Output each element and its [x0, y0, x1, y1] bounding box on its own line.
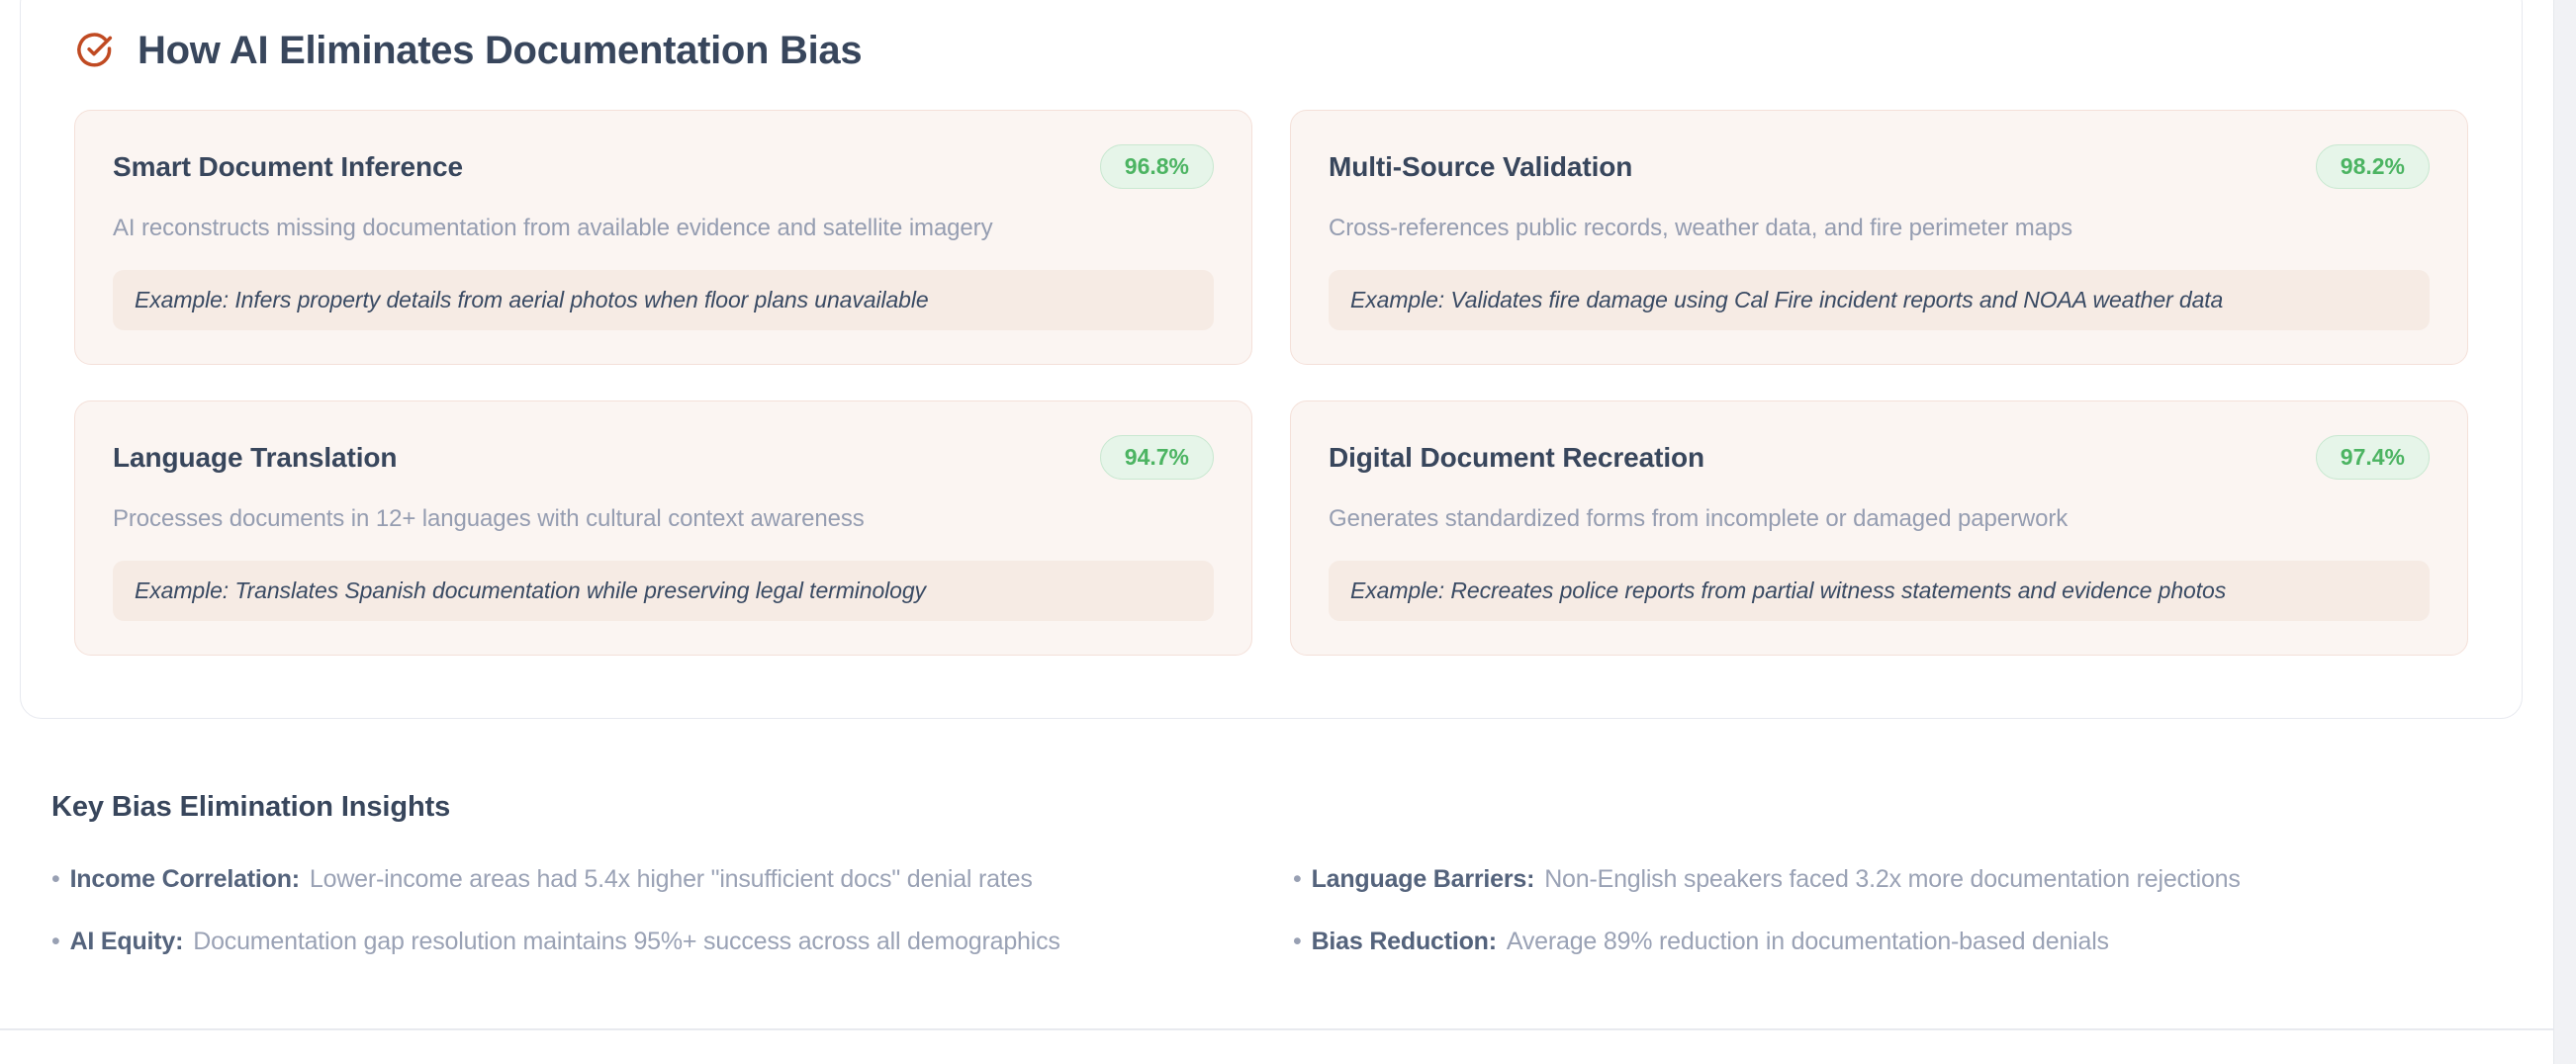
circle-check-icon [74, 31, 114, 70]
insight-item: • Language Barriers: Non-English speaker… [1293, 857, 2485, 902]
feature-example: Example: Infers property details from ae… [113, 270, 1214, 330]
bullet-icon: • [51, 867, 60, 892]
documentation-bias-panel: How AI Eliminates Documentation Bias Sma… [20, 0, 2523, 719]
insight-label: Bias Reduction: [1312, 928, 1497, 956]
feature-example: Example: Translates Spanish documentatio… [113, 561, 1214, 621]
bullet-icon: • [1293, 930, 1302, 954]
feature-card[interactable]: Digital Document Recreation 97.4% Genera… [1290, 400, 2468, 656]
feature-description: Cross-references public records, weather… [1329, 215, 2430, 242]
insights-grid: • Income Correlation: Lower-income areas… [51, 857, 2485, 964]
feature-title: Smart Document Inference [113, 151, 463, 183]
feature-title: Language Translation [113, 442, 397, 474]
insight-item: • Income Correlation: Lower-income areas… [51, 857, 1243, 902]
panel-header: How AI Eliminates Documentation Bias [21, 0, 2522, 70]
accuracy-badge: 94.7% [1100, 435, 1214, 480]
page-title: How AI Eliminates Documentation Bias [138, 31, 862, 70]
feature-title: Multi-Source Validation [1329, 151, 1632, 183]
page-scrollbar[interactable] [2553, 0, 2576, 1064]
feature-example: Example: Validates fire damage using Cal… [1329, 270, 2430, 330]
accuracy-badge: 96.8% [1100, 144, 1214, 189]
insights-section: Key Bias Elimination Insights • Income C… [51, 791, 2485, 964]
feature-description: Generates standardized forms from incomp… [1329, 505, 2430, 533]
feature-card[interactable]: Language Translation 94.7% Processes doc… [74, 400, 1252, 656]
app-root: How AI Eliminates Documentation Bias Sma… [0, 0, 2576, 1064]
feature-description: AI reconstructs missing documentation fr… [113, 215, 1214, 242]
insight-item: • AI Equity: Documentation gap resolutio… [51, 920, 1243, 964]
insight-item: • Bias Reduction: Average 89% reduction … [1293, 920, 2485, 964]
feature-card[interactable]: Multi-Source Validation 98.2% Cross-refe… [1290, 110, 2468, 365]
feature-description: Processes documents in 12+ languages wit… [113, 505, 1214, 533]
feature-card[interactable]: Smart Document Inference 96.8% AI recons… [74, 110, 1252, 365]
bullet-icon: • [1293, 867, 1302, 892]
bullet-icon: • [51, 930, 60, 954]
insight-text: Documentation gap resolution maintains 9… [193, 928, 1059, 956]
feature-example: Example: Recreates police reports from p… [1329, 561, 2430, 621]
insight-label: Income Correlation: [70, 865, 300, 894]
insight-label: Language Barriers: [1312, 865, 1535, 894]
feature-card-header: Digital Document Recreation 97.4% [1329, 435, 2430, 480]
bottom-strip [0, 1030, 2553, 1064]
insights-title: Key Bias Elimination Insights [51, 791, 2485, 824]
insight-label: AI Equity: [70, 928, 184, 956]
feature-grid: Smart Document Inference 96.8% AI recons… [21, 70, 2522, 656]
feature-card-header: Smart Document Inference 96.8% [113, 144, 1214, 189]
insight-text: Average 89% reduction in documentation-b… [1507, 928, 2109, 956]
accuracy-badge: 98.2% [2316, 144, 2430, 189]
accuracy-badge: 97.4% [2316, 435, 2430, 480]
page-content: How AI Eliminates Documentation Bias Sma… [0, 0, 2553, 1064]
feature-title: Digital Document Recreation [1329, 442, 1704, 474]
feature-card-header: Multi-Source Validation 98.2% [1329, 144, 2430, 189]
feature-card-header: Language Translation 94.7% [113, 435, 1214, 480]
insight-text: Lower-income areas had 5.4x higher "insu… [310, 865, 1033, 894]
insight-text: Non-English speakers faced 3.2x more doc… [1544, 865, 2240, 894]
